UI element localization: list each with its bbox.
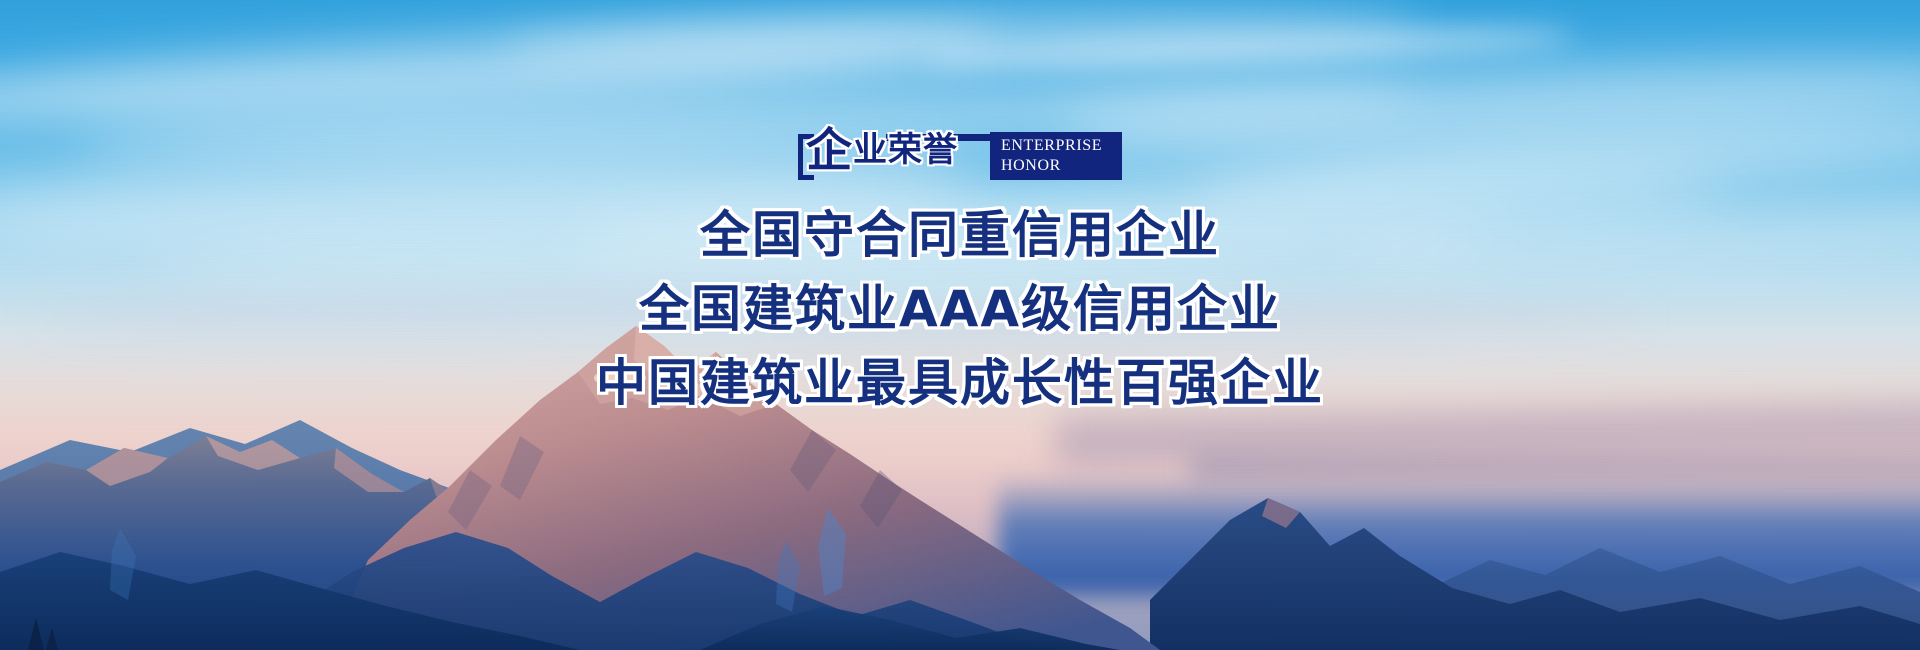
headline-group: 全国守合同重信用企业 全国建筑业AAA级信用企业 中国建筑业最具成长性百强企业 xyxy=(596,204,1324,414)
logo-chinese-rest: 业荣誉 xyxy=(853,130,958,170)
enterprise-honor-banner: 企业荣誉 ENTERPRISE HONOR 全国守合同重信用企业 全国建筑业AA… xyxy=(0,0,1920,650)
headline-line-1: 全国守合同重信用企业 xyxy=(700,204,1220,266)
logo-chinese-title: 企业荣誉 xyxy=(806,124,958,176)
logo-chinese-first-char: 企 xyxy=(806,123,853,177)
logo-english-line1: ENTERPRISE xyxy=(1001,136,1122,156)
logo-english-badge: ENTERPRISE HONOR xyxy=(990,132,1122,180)
banner-content: 企业荣誉 ENTERPRISE HONOR 全国守合同重信用企业 全国建筑业AA… xyxy=(0,0,1920,650)
enterprise-honor-logo: 企业荣誉 ENTERPRISE HONOR xyxy=(798,128,1122,180)
headline-line-2: 全国建筑业AAA级信用企业 xyxy=(639,278,1281,340)
headline-line-3: 中国建筑业最具成长性百强企业 xyxy=(596,352,1324,414)
logo-english-line2: HONOR xyxy=(1001,156,1122,176)
